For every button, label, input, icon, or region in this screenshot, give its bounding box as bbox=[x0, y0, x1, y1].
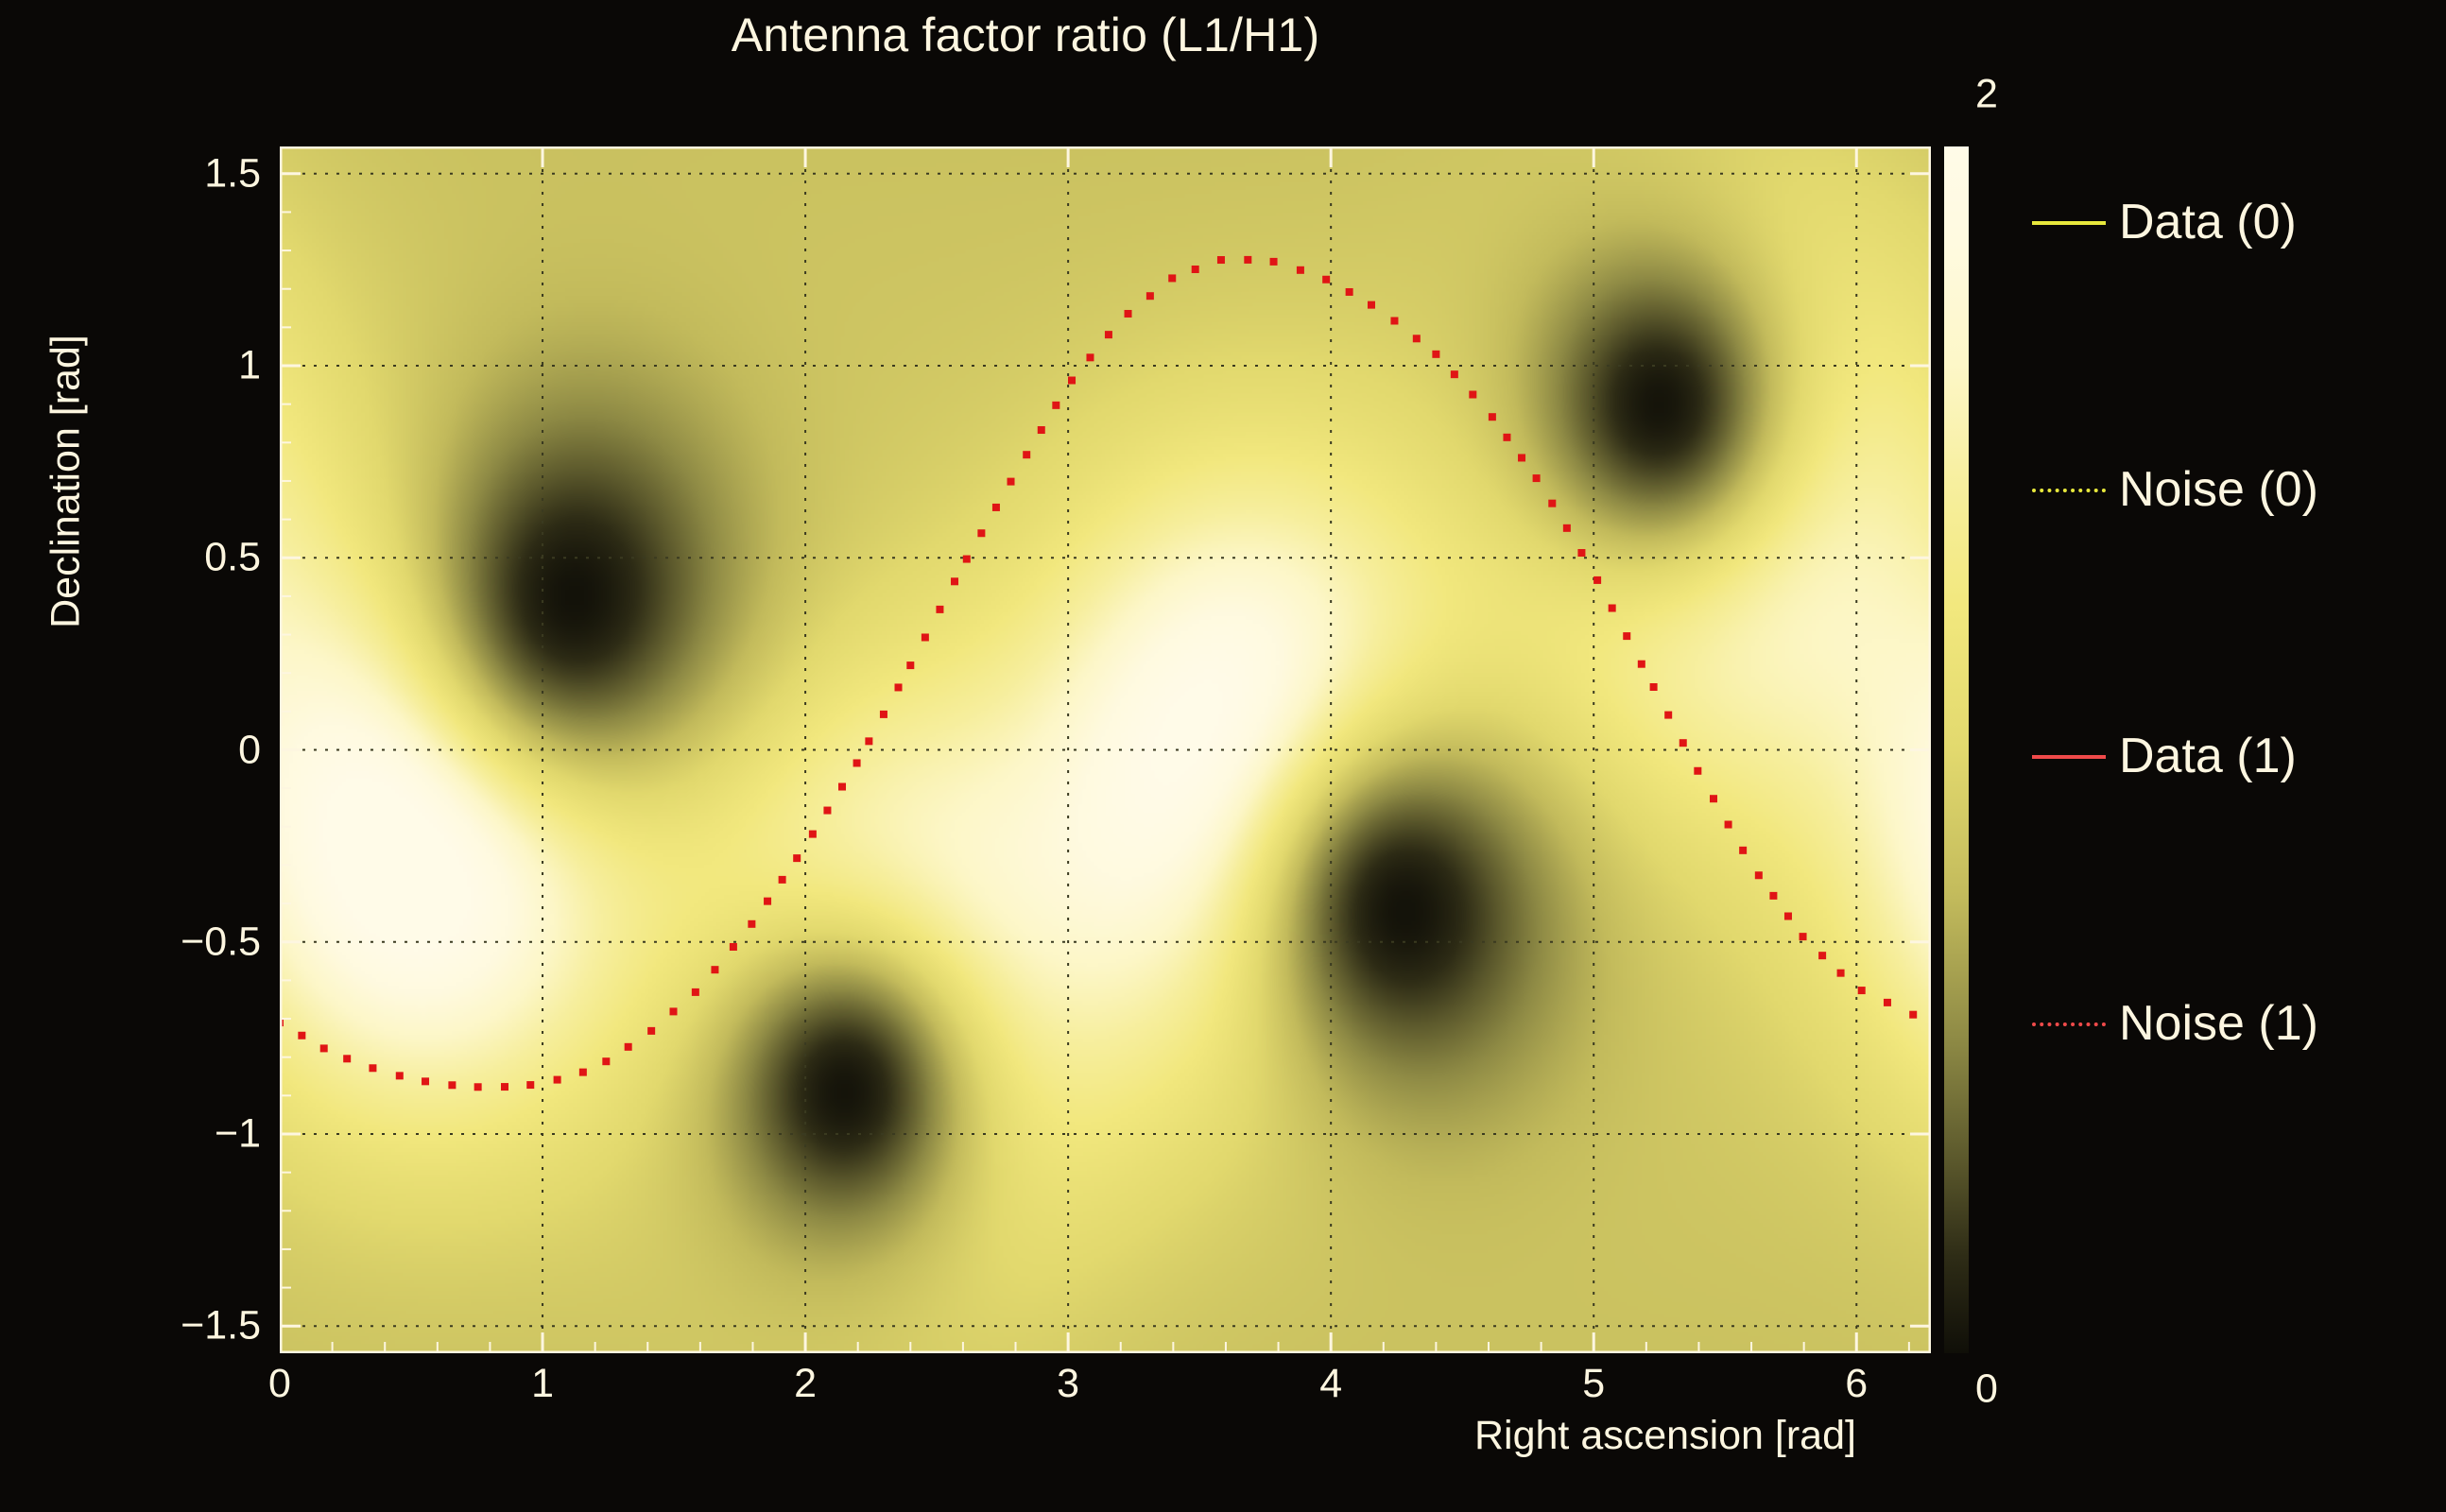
x-axis-title-text: Right ascension [rad] bbox=[1474, 1413, 1856, 1459]
legend-entry-label: Data (1) bbox=[2119, 728, 2297, 784]
colorbar-gradient bbox=[1944, 146, 1969, 1353]
chart-title: Antenna factor ratio (L1/H1) bbox=[0, 8, 2051, 62]
y-axis-tick-label: 1.5 bbox=[204, 150, 261, 197]
y-axis-tick-label: 0 bbox=[238, 727, 261, 773]
x-axis-tick-label: 1 bbox=[531, 1361, 554, 1407]
heatmap-field bbox=[280, 146, 1931, 1353]
legend-entry[interactable]: Data (1) bbox=[2032, 723, 2438, 789]
y-axis-title: Declination [rad] bbox=[38, 146, 95, 1353]
legend-entry[interactable]: Noise (1) bbox=[2032, 990, 2438, 1057]
colorbar-tick-label: 2 bbox=[1975, 72, 1998, 118]
y-axis-tick-label: −1 bbox=[215, 1110, 261, 1157]
y-axis-tick-label: −0.5 bbox=[181, 919, 261, 965]
y-axis-tick-label: 0.5 bbox=[204, 535, 261, 581]
x-axis-tick-label: 6 bbox=[1845, 1361, 1868, 1407]
legend-entry-label: Data (0) bbox=[2119, 194, 2297, 250]
legend-entry[interactable]: Data (0) bbox=[2032, 189, 2438, 255]
legend-entry[interactable]: Noise (0) bbox=[2032, 456, 2438, 523]
heatmap-plot-area bbox=[280, 146, 1931, 1353]
x-axis-tick-label: 4 bbox=[1319, 1361, 1342, 1407]
legend-entry-label: Noise (0) bbox=[2119, 461, 2318, 518]
y-axis-tick-label: 1 bbox=[238, 343, 261, 389]
x-axis-tick-label: 0 bbox=[268, 1361, 291, 1407]
y-axis-tick-label: −1.5 bbox=[181, 1303, 261, 1349]
figure-canvas: Antenna factor ratio (L1/H1) 1.510.50−0.… bbox=[0, 0, 2446, 1512]
y-axis-title-text: Declination [rad] bbox=[43, 335, 90, 628]
x-axis-tick-label: 3 bbox=[1057, 1361, 1079, 1407]
x-axis-tick-label: 5 bbox=[1582, 1361, 1605, 1407]
colorbar-tick-label: 0 bbox=[1975, 1366, 1998, 1413]
legend-entry-label: Noise (1) bbox=[2119, 995, 2318, 1052]
legend: Data (0)Noise (0)Data (1)Noise (1) bbox=[2032, 132, 2438, 1228]
x-axis-tick-label: 2 bbox=[794, 1361, 817, 1407]
